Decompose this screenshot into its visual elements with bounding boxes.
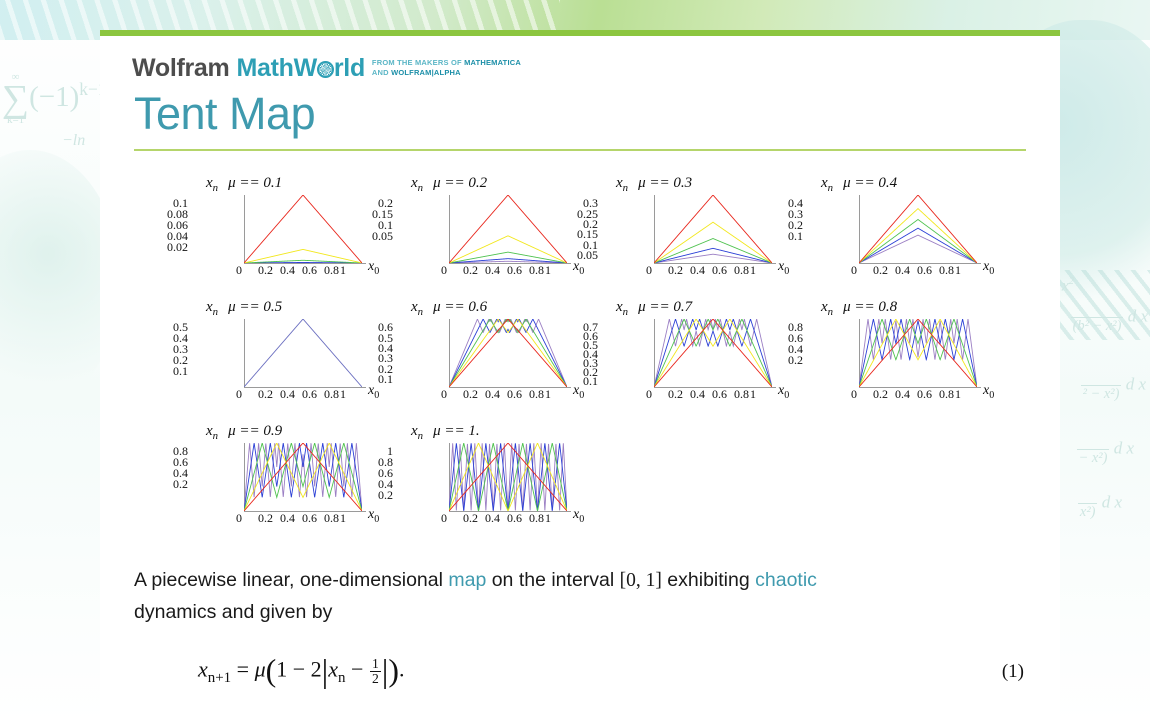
x-tick-label: 0.6 bbox=[507, 388, 522, 400]
series-iterate-2 bbox=[859, 319, 977, 387]
plot-mu-label: μ == 0.2 bbox=[433, 175, 487, 191]
x-tick-label: 0.4 bbox=[280, 264, 295, 276]
x-tick-label: 0.4 bbox=[485, 512, 500, 524]
x-tick-label: 1 bbox=[750, 264, 756, 276]
eq-minus-2: − bbox=[351, 656, 363, 681]
y-tick-label: 0.2 bbox=[378, 489, 393, 501]
sum-body: (−1) bbox=[29, 81, 79, 113]
y-tick-labels: 0.70.60.50.40.30.20.1 bbox=[540, 315, 600, 389]
y-tick-label: 0.2 bbox=[788, 354, 803, 366]
y-tick-labels: 0.10.080.060.040.02 bbox=[130, 191, 190, 265]
series-iterate-4 bbox=[859, 319, 977, 387]
x-tick-labels: 00.20.40.60.81 bbox=[236, 512, 386, 528]
series-iterate-3 bbox=[859, 319, 977, 387]
body-segment-2: on the interval bbox=[486, 569, 619, 591]
x-tick-label: 0.8 bbox=[734, 264, 749, 276]
plot-title: xnμ == 0.1 bbox=[206, 175, 282, 194]
x-tick-label: 0.6 bbox=[917, 388, 932, 400]
x-tick-label: 0.6 bbox=[712, 264, 727, 276]
eq-close-paren: ) bbox=[388, 653, 399, 688]
y-tick-labels: 10.80.60.40.2 bbox=[335, 439, 395, 513]
x-tick-labels: 00.20.40.60.81 bbox=[441, 388, 591, 404]
background-integral-4: x²) d x bbox=[1078, 486, 1122, 521]
background-ln-text: −ln bbox=[62, 132, 85, 150]
x-tick-labels: 00.20.40.60.81 bbox=[441, 512, 591, 528]
mathworld-prefix: MathW bbox=[236, 54, 316, 83]
mathworld-suffix: rld bbox=[334, 54, 365, 83]
x-tick-label: 0.8 bbox=[734, 388, 749, 400]
eq-mu: μ bbox=[255, 656, 266, 681]
x-tick-label: 0.8 bbox=[324, 512, 339, 524]
x-tick-labels: 00.20.40.60.81 bbox=[851, 388, 1001, 404]
x-tick-label: 0.2 bbox=[258, 264, 273, 276]
eq-frac-denominator: 2 bbox=[370, 672, 381, 686]
x-tick-label: 0.2 bbox=[668, 388, 683, 400]
background-integral-3: − x²) d x bbox=[1077, 432, 1134, 467]
x-tick-label: 0.8 bbox=[529, 388, 544, 400]
y-tick-labels: 0.80.60.40.2 bbox=[130, 439, 190, 513]
x-tick-label: 0.6 bbox=[302, 512, 317, 524]
plot-title: xnμ == 0.7 bbox=[616, 299, 692, 318]
x-tick-label: 0 bbox=[646, 264, 652, 276]
eq-minus: − bbox=[293, 656, 305, 681]
plot-mu-label: μ == 0.3 bbox=[638, 175, 692, 191]
x-tick-label: 0.6 bbox=[712, 388, 727, 400]
plot-ylabel: xn bbox=[206, 423, 218, 439]
x-tick-label: 0.4 bbox=[690, 264, 705, 276]
series-iterate-3 bbox=[859, 220, 977, 264]
plot-mu-label: μ == 0.7 bbox=[638, 299, 692, 315]
x-tick-label: 0 bbox=[646, 388, 652, 400]
plot-curves bbox=[859, 319, 977, 387]
eq-one-half-fraction: 12 bbox=[370, 657, 381, 686]
x-tick-label: 0.4 bbox=[895, 388, 910, 400]
plot-mu-label: μ == 0.1 bbox=[228, 175, 282, 191]
eq-xn-subscript: n bbox=[338, 670, 345, 686]
background-x-squared: x2 bbox=[1062, 276, 1074, 295]
eq-frac-numerator: 1 bbox=[370, 657, 381, 672]
x-tick-label: 0.8 bbox=[324, 388, 339, 400]
x-tick-label: 0.8 bbox=[939, 264, 954, 276]
brand-mathworld-text: MathWrld bbox=[236, 54, 364, 83]
y-tick-label: 0.05 bbox=[577, 249, 598, 261]
x-tick-label: 0.4 bbox=[895, 264, 910, 276]
eq-equals: = bbox=[237, 656, 249, 681]
y-tick-labels: 0.60.50.40.30.20.1 bbox=[335, 315, 395, 389]
plot-curves bbox=[859, 195, 977, 263]
body-segment-3: exhibiting bbox=[662, 569, 755, 591]
brand-tagline: FROM THE MAKERS OF MATHEMATICA AND WOLFR… bbox=[372, 58, 521, 83]
x-tick-label: 1 bbox=[340, 512, 346, 524]
plot-ylabel: xn bbox=[821, 175, 833, 191]
eq-xn: x bbox=[328, 656, 338, 681]
plot-curves bbox=[449, 443, 567, 511]
plot-title: xnμ == 0.9 bbox=[206, 423, 282, 442]
x-tick-label: 1 bbox=[340, 388, 346, 400]
y-tick-labels: 0.80.60.40.2 bbox=[745, 315, 805, 389]
body-segment-1: A piecewise linear, one-dimensional bbox=[134, 569, 448, 591]
eq-one: 1 bbox=[276, 656, 287, 681]
plot-xlabel: x0 bbox=[573, 507, 584, 525]
page-title: Tent Map bbox=[134, 89, 1028, 139]
x-tick-label: 0.8 bbox=[324, 264, 339, 276]
tagline-line-2: AND WOLFRAM|ALPHA bbox=[372, 68, 461, 77]
plot-ylabel: xn bbox=[206, 175, 218, 191]
body-segment-4: dynamics and given by bbox=[134, 601, 332, 623]
x-tick-label: 0 bbox=[441, 264, 447, 276]
background-integral-1: (b² − x²) d x bbox=[1071, 300, 1148, 335]
y-tick-label: 0.1 bbox=[583, 375, 598, 387]
tagline-line-1: FROM THE MAKERS OF MATHEMATICA bbox=[372, 58, 521, 67]
eq-lhs-subscript: n+1 bbox=[208, 670, 231, 686]
x-tick-label: 0.2 bbox=[668, 264, 683, 276]
y-tick-label: 0.2 bbox=[173, 478, 188, 490]
x-tick-label: 1 bbox=[955, 388, 961, 400]
y-tick-label: 0.1 bbox=[378, 373, 393, 385]
plot-title: xnμ == 1. bbox=[411, 423, 480, 442]
x-tick-label: 0 bbox=[236, 388, 242, 400]
series-iterate-5 bbox=[449, 444, 567, 512]
content-panel: Wolfram MathWrld FROM THE MAKERS OF MATH… bbox=[100, 30, 1060, 724]
x-tick-labels: 00.20.40.60.81 bbox=[441, 264, 591, 280]
x-tick-label: 1 bbox=[750, 388, 756, 400]
tent-map-plot-grid: xnμ == 0.10.10.080.060.040.0200.20.40.60… bbox=[190, 167, 1028, 539]
plot-mu-label: μ == 0.9 bbox=[228, 423, 282, 439]
background-integral-2: ² − x²) d x bbox=[1081, 368, 1146, 403]
plot-ylabel: xn bbox=[411, 175, 423, 191]
site-logo[interactable]: Wolfram MathWrld FROM THE MAKERS OF MATH… bbox=[132, 54, 1028, 83]
y-tick-labels: 0.20.150.10.05 bbox=[335, 191, 395, 265]
equation-row: xn+1 = μ(1 − 2|xn − 12|). (1) bbox=[132, 653, 1028, 691]
x-tick-label: 0.2 bbox=[463, 264, 478, 276]
series-iterate-1 bbox=[859, 319, 977, 387]
x-tick-label: 0 bbox=[851, 388, 857, 400]
series-iterate-4 bbox=[859, 229, 977, 264]
x-tick-label: 1 bbox=[955, 264, 961, 276]
plot-xlabel: x0 bbox=[983, 259, 994, 277]
x-tick-label: 0.8 bbox=[529, 264, 544, 276]
x-tick-labels: 00.20.40.60.81 bbox=[236, 388, 386, 404]
plot-title: xnμ == 0.6 bbox=[411, 299, 487, 318]
background-summation-formula: ∞ ∑ k=1 (−1)k−1 bbox=[2, 72, 106, 126]
x-tick-label: 0 bbox=[441, 388, 447, 400]
x-tick-label: 0.4 bbox=[280, 388, 295, 400]
plot-title: xnμ == 0.2 bbox=[411, 175, 487, 194]
x-tick-label: 0.2 bbox=[873, 264, 888, 276]
x-tick-labels: 00.20.40.60.81 bbox=[236, 264, 386, 280]
link-chaotic[interactable]: chaotic bbox=[755, 569, 817, 591]
plot-mu-label: μ == 0.8 bbox=[843, 299, 897, 315]
y-tick-label: 0.05 bbox=[372, 230, 393, 242]
x-tick-label: 0.6 bbox=[507, 264, 522, 276]
equation-number: (1) bbox=[954, 661, 1024, 683]
x-tick-label: 0.8 bbox=[529, 512, 544, 524]
eq-period: . bbox=[399, 656, 405, 681]
x-tick-labels: 00.20.40.60.81 bbox=[646, 388, 796, 404]
eq-two: 2 bbox=[311, 656, 322, 681]
x-tick-label: 0.2 bbox=[463, 388, 478, 400]
title-divider bbox=[134, 149, 1026, 151]
x-tick-label: 1 bbox=[545, 264, 551, 276]
x-tick-label: 0 bbox=[236, 264, 242, 276]
tent-map-plot: xnμ == 0.40.40.30.20.100.20.40.60.81x0 bbox=[805, 167, 1010, 291]
x-tick-label: 0 bbox=[851, 264, 857, 276]
eq-lhs: x bbox=[198, 656, 208, 681]
y-tick-labels: 0.50.40.30.20.1 bbox=[130, 315, 190, 389]
x-tick-labels: 00.20.40.60.81 bbox=[851, 264, 1001, 280]
x-tick-label: 0.2 bbox=[873, 388, 888, 400]
tent-map-plot: xnμ == 0.80.80.60.40.200.20.40.60.81x0 bbox=[805, 291, 1010, 415]
x-tick-label: 0 bbox=[441, 512, 447, 524]
plot-mu-label: μ == 0.6 bbox=[433, 299, 487, 315]
x-tick-labels: 00.20.40.60.81 bbox=[646, 264, 796, 280]
plot-ylabel: xn bbox=[206, 299, 218, 315]
eq-open-paren: ( bbox=[266, 653, 277, 688]
x-tick-label: 1 bbox=[545, 388, 551, 400]
plot-ylabel: xn bbox=[411, 299, 423, 315]
plot-title: xnμ == 0.3 bbox=[616, 175, 692, 194]
plot-xlabel: x0 bbox=[983, 383, 994, 401]
x-tick-label: 0.6 bbox=[917, 264, 932, 276]
y-tick-label: 0.1 bbox=[788, 230, 803, 242]
plot-title: xnμ == 0.8 bbox=[821, 299, 897, 318]
series-iterate-5 bbox=[859, 236, 977, 264]
link-map[interactable]: map bbox=[448, 569, 486, 591]
y-tick-label: 0.02 bbox=[167, 241, 188, 253]
plot-mu-label: μ == 0.5 bbox=[228, 299, 282, 315]
y-tick-labels: 0.30.250.20.150.10.05 bbox=[540, 191, 600, 265]
plot-ylabel: xn bbox=[411, 423, 423, 439]
plot-ylabel: xn bbox=[616, 299, 628, 315]
x-tick-label: 0.6 bbox=[507, 512, 522, 524]
x-tick-label: 0.2 bbox=[463, 512, 478, 524]
globe-icon bbox=[317, 61, 334, 78]
x-tick-label: 0.6 bbox=[302, 388, 317, 400]
x-tick-label: 0.4 bbox=[485, 388, 500, 400]
y-tick-label: 0.1 bbox=[173, 365, 188, 377]
sum-symbol: ∑ bbox=[2, 83, 29, 115]
x-tick-label: 0.4 bbox=[485, 264, 500, 276]
plot-title: xnμ == 0.4 bbox=[821, 175, 897, 194]
x-tick-label: 0.2 bbox=[258, 388, 273, 400]
brand-wolfram-text: Wolfram bbox=[132, 54, 229, 83]
x-tick-label: 0.6 bbox=[302, 264, 317, 276]
x-tick-label: 1 bbox=[340, 264, 346, 276]
series-iterate-5 bbox=[859, 319, 977, 387]
x-tick-label: 0.2 bbox=[258, 512, 273, 524]
y-tick-labels: 0.40.30.20.1 bbox=[745, 191, 805, 265]
x-tick-label: 0.4 bbox=[280, 512, 295, 524]
x-tick-label: 0.8 bbox=[939, 388, 954, 400]
tent-map-equation: xn+1 = μ(1 − 2|xn − 12|). bbox=[134, 653, 954, 691]
plot-mu-label: μ == 1. bbox=[433, 423, 480, 439]
x-tick-label: 0 bbox=[236, 512, 242, 524]
plot-ylabel: xn bbox=[821, 299, 833, 315]
interval-notation: [0, 1] bbox=[620, 570, 662, 591]
plot-title: xnμ == 0.5 bbox=[206, 299, 282, 318]
plot-mu-label: μ == 0.4 bbox=[843, 175, 897, 191]
x-tick-label: 0.4 bbox=[690, 388, 705, 400]
plot-ylabel: xn bbox=[616, 175, 628, 191]
article-body: A piecewise linear, one-dimensional map … bbox=[134, 565, 996, 626]
x-tick-label: 1 bbox=[545, 512, 551, 524]
tent-map-plot: xnμ == 1.10.80.60.40.200.20.40.60.81x0 bbox=[395, 415, 600, 539]
